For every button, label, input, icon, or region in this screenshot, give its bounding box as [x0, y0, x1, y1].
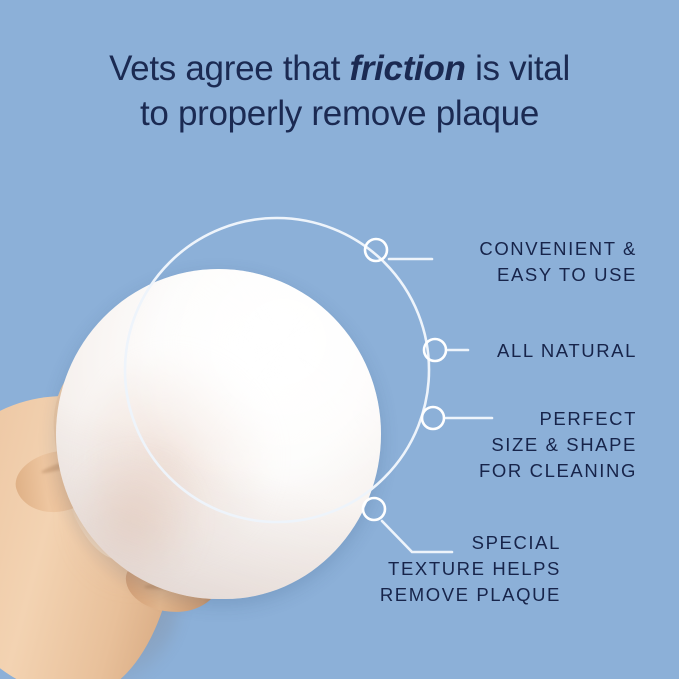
callout-label-convenient: CONVENIENT & EASY TO USE	[479, 236, 637, 288]
product-infographic: Vets agree that friction is vital to pro…	[0, 0, 679, 679]
marker-dot-3	[422, 407, 444, 429]
callout-label-perfect-size: PERFECT SIZE & SHAPE FOR CLEANING	[479, 406, 637, 484]
callout-ring	[125, 218, 429, 522]
callout-label-all-natural: ALL NATURAL	[497, 338, 637, 364]
callout-label-special-texture: SPECIAL TEXTURE HELPS REMOVE PLAQUE	[380, 530, 561, 608]
marker-dot-4	[363, 498, 385, 520]
